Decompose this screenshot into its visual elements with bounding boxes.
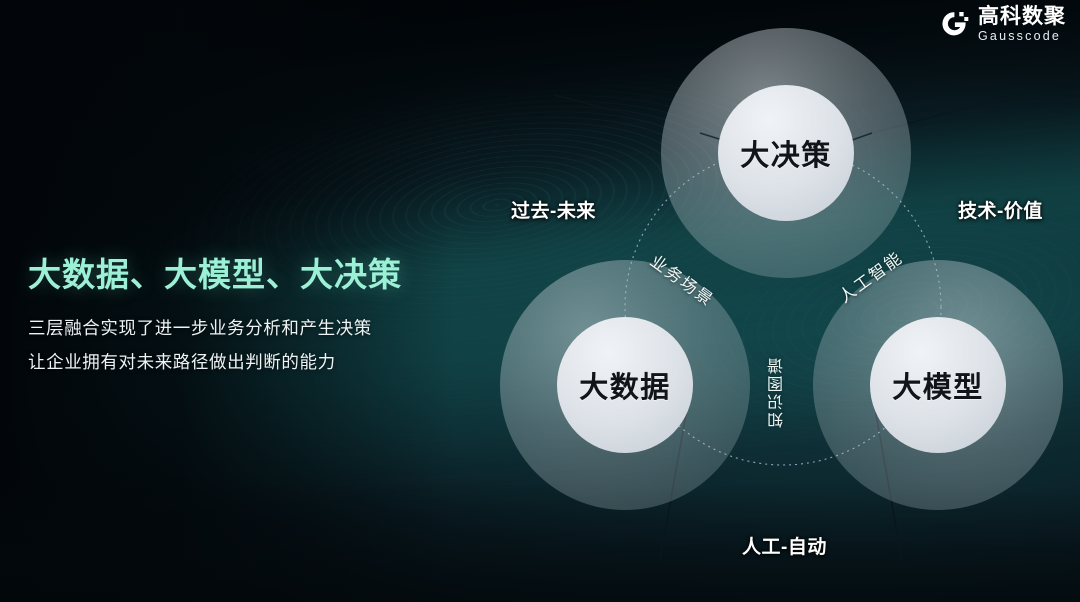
brand-name-cn: 高科数聚 bbox=[978, 6, 1066, 27]
subtitle-line-2: 让企业拥有对未来路径做出判断的能力 bbox=[28, 345, 402, 379]
brand-logo-text: 高科数聚 Gausscode bbox=[978, 6, 1066, 43]
gausscode-logo-icon bbox=[939, 9, 969, 39]
axis-label-past-future: 过去-未来 bbox=[511, 196, 596, 223]
subtitle-line-1: 三层融合实现了进一步业务分析和产生决策 bbox=[28, 311, 402, 345]
circle-label-bigdata: 大数据 bbox=[579, 364, 671, 406]
circle-label-decision: 大决策 bbox=[740, 132, 832, 174]
page-title: 大数据、大模型、大决策 bbox=[28, 255, 402, 295]
axis-label-manual-automatic: 人工-自动 bbox=[742, 532, 827, 559]
brand-logo: 高科数聚 Gausscode bbox=[939, 6, 1066, 43]
brand-name-en: Gausscode bbox=[978, 30, 1066, 43]
copy-block: 大数据、大模型、大决策 三层融合实现了进一步业务分析和产生决策 让企业拥有对未来… bbox=[28, 255, 402, 379]
slide-canvas: 高科数聚 Gausscode 大数据、大模型、大决策 三层融合实现了进一步业务分… bbox=[0, 0, 1080, 602]
intersection-label-knowledge-graph: 知识图谱 bbox=[766, 356, 790, 428]
circle-label-bigmodel: 大模型 bbox=[892, 364, 984, 406]
axis-label-tech-value: 技术-价值 bbox=[958, 196, 1043, 223]
